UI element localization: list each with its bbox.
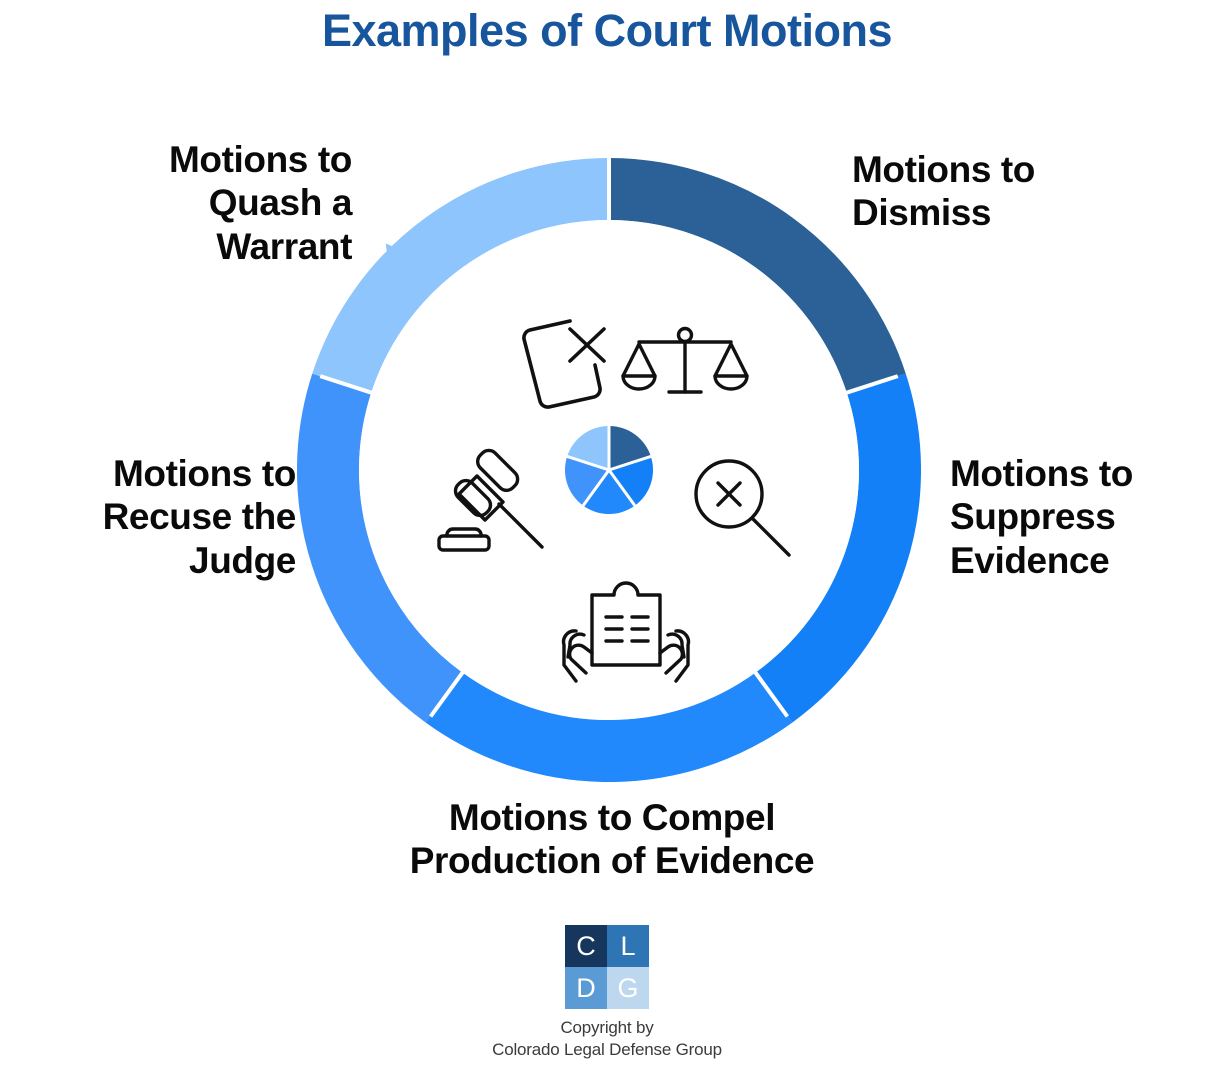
center-mini-pie [565, 426, 653, 514]
footer: C L D G Copyright by Colorado Legal Defe… [0, 925, 1214, 1062]
logo-cell-d: D [565, 967, 607, 1009]
donut-svg [297, 158, 921, 782]
copyright-line-2: Colorado Legal Defense Group [492, 1039, 722, 1061]
infographic-page: Examples of Court Motions [0, 0, 1214, 1069]
label-motions-to-suppress-evidence: Motions to Suppress Evidence [950, 452, 1205, 582]
copyright-block: Copyright by Colorado Legal Defense Grou… [492, 1017, 722, 1062]
cldg-logo: C L D G [565, 925, 649, 1009]
label-motions-to-recuse-the-judge: Motions to Recuse the Judge [8, 452, 296, 582]
label-motions-to-dismiss: Motions to Dismiss [852, 148, 1202, 235]
copyright-line-1: Copyright by [492, 1017, 722, 1039]
label-motions-to-quash-a-warrant: Motions to Quash a Warrant [12, 138, 352, 268]
label-motions-to-compel-production-of-evidence: Motions to Compel Production of Evidence [287, 796, 937, 883]
logo-cell-c: C [565, 925, 607, 967]
logo-cell-l: L [607, 925, 649, 967]
cycle-donut-chart [297, 158, 921, 782]
logo-cell-g: G [607, 967, 649, 1009]
page-title: Examples of Court Motions [0, 6, 1214, 56]
